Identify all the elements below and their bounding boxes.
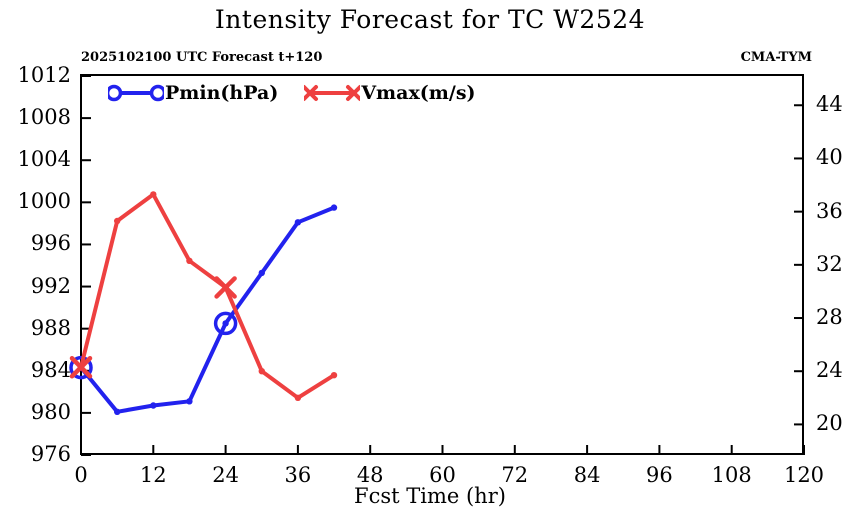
chart-canvas [0,0,860,525]
y-right-tick-label: 32 [816,252,860,276]
x-axis-label: Fcst Time (hr) [0,484,860,508]
intensity-forecast-chart: Intensity Forecast for TC W2524 20251021… [0,0,860,525]
y-right-tick-label: 40 [816,145,860,169]
y-left-tick-label: 1008 [9,105,71,129]
y-right-tick-label: 28 [816,305,860,329]
legend-entry[interactable]: Pmin(hPa) [108,82,278,104]
legend-label: Pmin(hPa) [165,82,278,104]
y-left-tick-label: 1012 [9,63,71,87]
legend-label: Vmax(m/s) [361,82,475,104]
y-left-tick-label: 1000 [9,189,71,213]
y-left-tick-label: 992 [9,274,71,298]
y-left-tick-label: 980 [9,400,71,424]
y-left-tick-label: 988 [9,316,71,340]
y-left-tick-label: 996 [9,231,71,255]
legend-x-cross-icon [304,84,360,102]
y-right-tick-label: 36 [816,199,860,223]
data-series-layer [71,191,337,415]
y-right-tick-label: 24 [816,358,860,382]
chart-legend: Pmin(hPa)Vmax(m/s) [108,82,476,104]
y-left-tick-label: 984 [9,358,71,382]
y-left-tick-label: 1004 [9,147,71,171]
legend-entry[interactable]: Vmax(m/s) [304,82,475,104]
y-right-tick-label: 44 [816,92,860,116]
y-right-tick-label: 20 [816,411,860,435]
legend-circle-icon [108,84,164,102]
